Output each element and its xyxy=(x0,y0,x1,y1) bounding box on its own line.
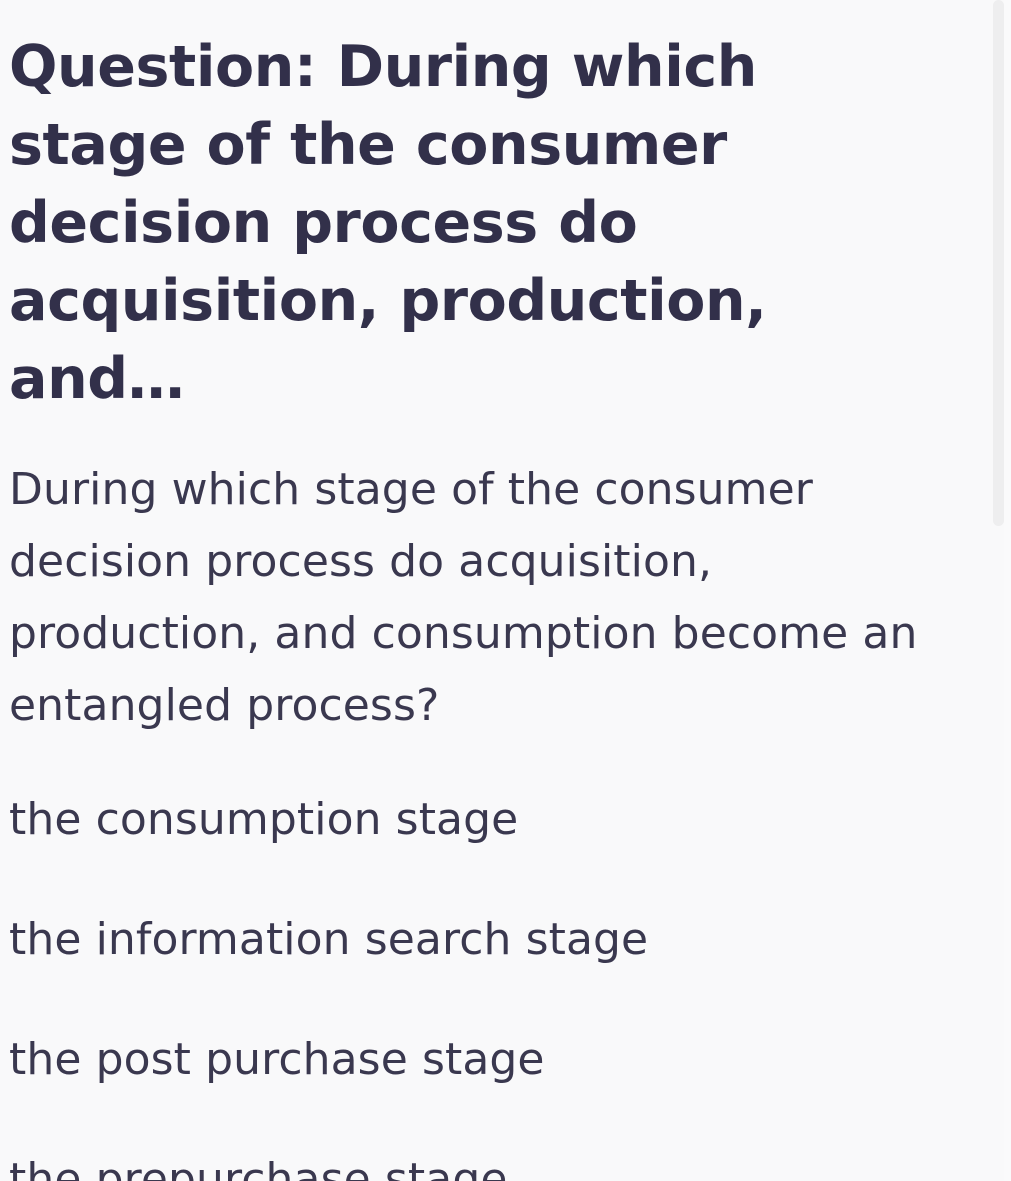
answer-options-list: the consumption stage the information se… xyxy=(9,742,967,1181)
scrollbar-thumb[interactable] xyxy=(993,0,1004,526)
answer-option-label: the post purchase stage xyxy=(9,1034,545,1085)
answer-option-2[interactable]: the information search stage xyxy=(9,912,967,968)
question-card-page: Question: During which stage of the cons… xyxy=(0,0,1011,1181)
question-text: During which stage of the consumer decis… xyxy=(9,418,944,742)
vertical-scrollbar[interactable] xyxy=(993,0,1004,1181)
right-edge-shade xyxy=(1004,0,1011,1181)
answer-option-label: the information search stage xyxy=(9,914,648,965)
question-content: Question: During which stage of the cons… xyxy=(0,0,975,1181)
answer-option-4[interactable]: the prepurchase stage xyxy=(9,1152,967,1181)
page-title: Question: During which stage of the cons… xyxy=(9,0,954,418)
answer-option-3[interactable]: the post purchase stage xyxy=(9,1032,967,1088)
answer-option-label: the prepurchase stage xyxy=(9,1154,508,1181)
answer-option-1[interactable]: the consumption stage xyxy=(9,792,967,848)
answer-option-label: the consumption stage xyxy=(9,794,518,845)
